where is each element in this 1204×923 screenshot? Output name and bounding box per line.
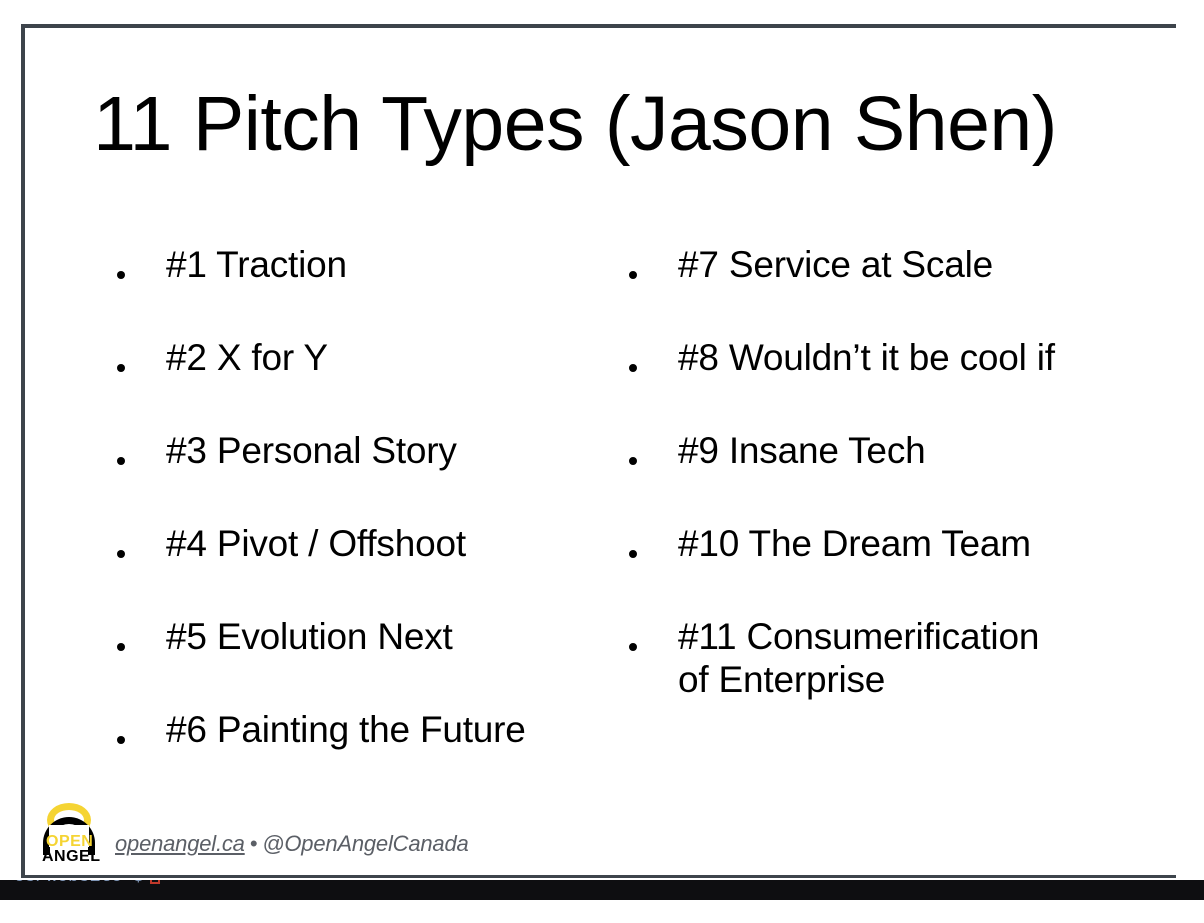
list-item: #3 Personal Story <box>111 429 591 522</box>
openangel-logo: OPEN ANGEL <box>39 801 101 865</box>
bullet-dot-icon <box>629 271 637 279</box>
list-item: #11 Consumerificationof Enterprise <box>623 615 1143 708</box>
bullet-dot-icon <box>117 364 125 372</box>
bullet-label: #4 Pivot / Offshoot <box>166 523 466 564</box>
slide-title: 11 Pitch Types (Jason Shen) <box>25 86 1125 163</box>
bullet-dot-icon <box>117 550 125 558</box>
bullet-dot-icon <box>117 736 125 744</box>
bullet-dot-icon <box>629 364 637 372</box>
list-item: #2 X for Y <box>111 336 591 429</box>
list-item: #7 Service at Scale <box>623 243 1143 336</box>
terminal-strip: es/website $ <box>0 880 1204 900</box>
slide-footer: OPEN ANGEL openangel.ca•@OpenAngelCanada <box>39 799 469 865</box>
logo-angel-text: ANGEL <box>42 849 101 865</box>
bullet-dot-icon <box>629 457 637 465</box>
bullet-column-left: #1 Traction #2 X for Y #3 Personal Story… <box>111 243 591 801</box>
footer-separator: • <box>250 831 258 856</box>
footer-credit: openangel.ca•@OpenAngelCanada <box>115 831 469 865</box>
bullet-label: #6 Painting the Future <box>166 709 526 750</box>
bullet-dot-icon <box>629 643 637 651</box>
bullet-label: #11 Consumerificationof Enterprise <box>678 616 1143 701</box>
bullet-label-line2: of Enterprise <box>678 658 1143 701</box>
list-item: #4 Pivot / Offshoot <box>111 522 591 615</box>
bullet-dot-icon <box>117 643 125 651</box>
bullet-label: #5 Evolution Next <box>166 616 453 657</box>
bullet-label: #2 X for Y <box>166 337 328 378</box>
terminal-prompt-line: es/website $ <box>14 880 160 887</box>
bullet-label: #1 Traction <box>166 244 347 285</box>
bullet-label: #3 Personal Story <box>166 430 457 471</box>
bullet-dot-icon <box>117 271 125 279</box>
bullet-column-right: #7 Service at Scale #8 Wouldn’t it be co… <box>623 243 1143 708</box>
bullet-dot-icon <box>117 457 125 465</box>
twitter-handle: @OpenAngelCanada <box>262 831 468 856</box>
bullet-label: #9 Insane Tech <box>678 430 926 471</box>
list-item: #9 Insane Tech <box>623 429 1143 522</box>
list-item: #10 The Dream Team <box>623 522 1143 615</box>
list-item: #5 Evolution Next <box>111 615 591 708</box>
openangel-website-link[interactable]: openangel.ca <box>115 831 245 856</box>
terminal-prompt-text: es/website $ <box>14 880 144 887</box>
list-item: #1 Traction <box>111 243 591 336</box>
presentation-slide: 11 Pitch Types (Jason Shen) #1 Traction … <box>21 24 1176 878</box>
bullet-label: #10 The Dream Team <box>678 523 1031 564</box>
list-item: #6 Painting the Future <box>111 708 591 801</box>
list-item: #8 Wouldn’t it be cool if <box>623 336 1143 429</box>
bullet-label-line1: #11 Consumerification <box>678 616 1039 657</box>
bullet-dot-icon <box>629 550 637 558</box>
bullet-label: #8 Wouldn’t it be cool if <box>678 337 1055 378</box>
terminal-cursor <box>150 880 160 884</box>
bullet-label: #7 Service at Scale <box>678 244 993 285</box>
